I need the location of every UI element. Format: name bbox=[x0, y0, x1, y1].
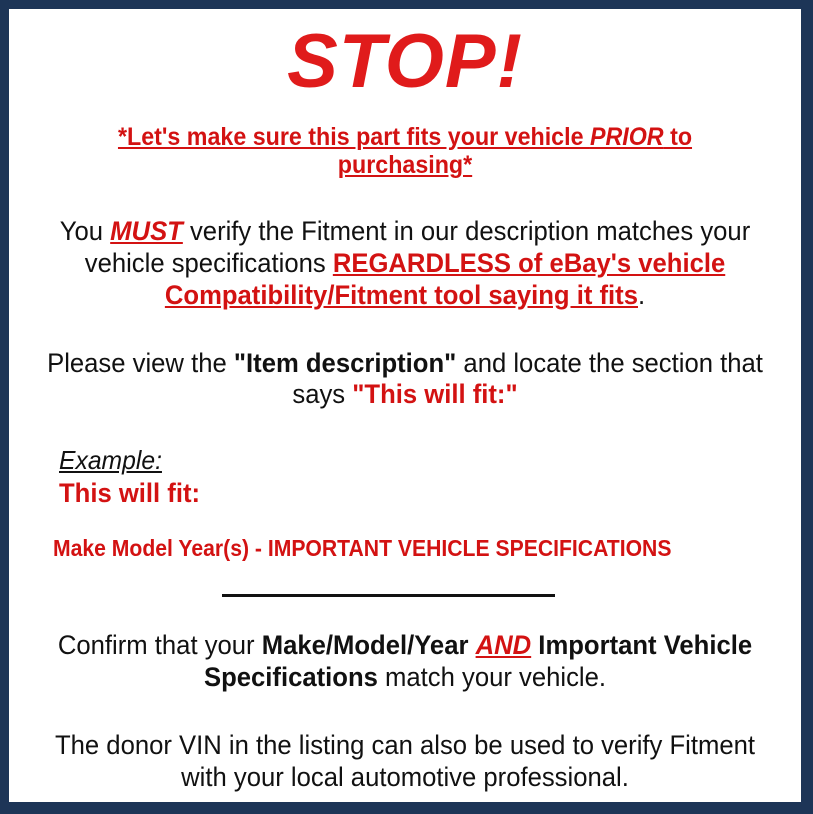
make-model-year-emphasis: Make/Model/Year bbox=[262, 630, 469, 660]
subheadline: *Let's make sure this part fits your veh… bbox=[50, 123, 761, 181]
and-emphasis: AND bbox=[476, 630, 532, 660]
fitment-notice-card: STOP! *Let's make sure this part fits yo… bbox=[9, 9, 801, 802]
item-description-emphasis: "Item description" bbox=[234, 348, 456, 378]
horizontal-divider bbox=[222, 594, 555, 597]
example-fit-heading: This will fit: bbox=[59, 478, 751, 509]
example-block: Example: This will fit: Make Model Year(… bbox=[23, 445, 787, 562]
must-text-part3: . bbox=[638, 280, 645, 310]
stop-headline: STOP! bbox=[23, 9, 787, 101]
confirm-text-part1: Confirm that your bbox=[58, 630, 262, 660]
confirm-text-part2: match your vehicle. bbox=[378, 662, 606, 692]
paragraph-view-item-description: Please view the "Item description" and l… bbox=[42, 348, 768, 412]
example-spec-line: Make Model Year(s) - IMPORTANT VEHICLE S… bbox=[53, 535, 728, 562]
example-label: Example: bbox=[59, 445, 162, 476]
must-text-part1: You bbox=[60, 216, 110, 246]
paragraph-confirm: Confirm that your Make/Model/Year AND Im… bbox=[42, 630, 768, 694]
subheadline-text-before: *Let's make sure this part fits your veh… bbox=[118, 123, 590, 151]
paragraph-must-verify: You MUST verify the Fitment in our descr… bbox=[42, 216, 768, 312]
view-text-part1: Please view the bbox=[47, 348, 234, 378]
subheadline-emphasis-prior: PRIOR bbox=[590, 123, 664, 151]
must-emphasis: MUST bbox=[110, 216, 183, 246]
fitment-notice-frame: STOP! *Let's make sure this part fits yo… bbox=[0, 0, 813, 814]
divider-wrap bbox=[23, 584, 787, 602]
paragraph-donor-vin: The donor VIN in the listing can also be… bbox=[42, 730, 768, 794]
this-will-fit-emphasis: "This will fit:" bbox=[352, 379, 517, 409]
